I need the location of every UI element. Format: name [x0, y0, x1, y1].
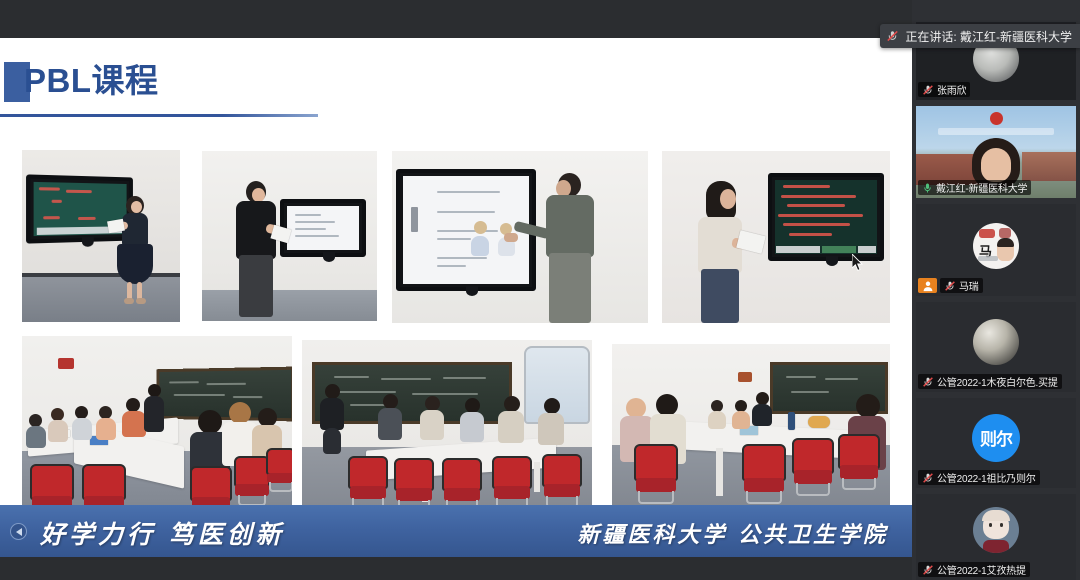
chair — [634, 444, 678, 504]
slide-clipart — [474, 221, 487, 234]
board-writing — [789, 233, 832, 236]
person-head — [229, 402, 251, 424]
photo-3[interactable] — [392, 151, 648, 323]
person-torso — [320, 398, 344, 430]
slide-clipart — [471, 236, 489, 256]
table-leg — [716, 448, 723, 496]
campus-title-text — [938, 128, 1053, 135]
student — [420, 396, 446, 450]
mouse-pointer-icon — [852, 254, 864, 272]
slide-title-block: PBL课程 — [0, 52, 340, 104]
participant-tile[interactable]: 则尔 公管2022-1祖比乃则尔 — [916, 398, 1076, 488]
student-presenter — [752, 392, 774, 424]
slide-line — [295, 235, 339, 237]
chair — [542, 454, 582, 508]
chair — [742, 444, 786, 504]
student — [72, 406, 94, 440]
person-face — [252, 188, 265, 202]
photo-2[interactable] — [202, 151, 377, 321]
microphone-muted-icon — [922, 84, 934, 96]
participant-name: 张雨欣 — [937, 82, 966, 97]
student — [732, 400, 752, 428]
smartboard-sensor — [466, 286, 478, 296]
smartboard-sensor — [826, 256, 838, 266]
student — [96, 406, 118, 440]
person-torso — [460, 412, 484, 442]
board-writing — [43, 216, 60, 219]
chair — [394, 458, 434, 512]
board-writing — [39, 187, 60, 190]
person-pants — [549, 253, 591, 323]
person-torso — [48, 420, 68, 442]
person-shoe — [124, 298, 134, 304]
person-torso — [26, 426, 46, 448]
table-items — [788, 412, 795, 430]
wall-clock — [58, 358, 74, 369]
participant-name: 马瑞 — [959, 278, 979, 293]
student — [48, 408, 70, 442]
person-head — [544, 398, 560, 414]
student — [26, 414, 48, 446]
person-presenter — [690, 181, 760, 323]
speaker-face — [981, 148, 1011, 182]
smartboard-toolbar — [822, 246, 857, 253]
slide-line — [437, 238, 471, 240]
participant-name: 公管2022-1祖比乃则尔 — [937, 470, 1036, 485]
person-torso — [732, 411, 750, 429]
blackboard-writing — [206, 383, 246, 385]
avatar: 马 — [973, 223, 1019, 269]
person-pants — [323, 428, 341, 454]
microphone-muted-icon — [922, 376, 934, 388]
table-leg — [534, 462, 540, 492]
student-presenter — [144, 384, 166, 432]
participant-tile-active-speaker[interactable]: 戴江红-新疆医科大学 — [916, 106, 1076, 198]
person-torso — [752, 404, 772, 426]
chair — [266, 448, 292, 492]
participant-tile[interactable]: 公管2022-1艾孜热提 — [916, 494, 1076, 580]
person-jeans — [701, 269, 739, 323]
person-head — [626, 398, 646, 418]
blackboard-writing — [443, 377, 486, 379]
blackboard-writing — [381, 378, 431, 380]
chair — [792, 438, 834, 496]
board-writing — [783, 223, 850, 226]
smartboard-screen — [775, 180, 877, 254]
student — [378, 394, 404, 450]
participant-rail[interactable]: 张雨欣 戴江红-新疆医科大学 — [912, 0, 1080, 580]
blackboard-writing — [334, 376, 369, 378]
avatar-cartoon — [973, 507, 1019, 553]
chair — [234, 456, 270, 506]
board-writing — [787, 204, 845, 207]
blackboard-writing — [233, 396, 263, 398]
meeting-window: PBL课程 — [0, 0, 1080, 580]
board-writing — [783, 185, 831, 188]
participant-tile[interactable]: 公管2022-1木夜白尔色.买提 — [916, 302, 1076, 392]
page-title: PBL课程 — [24, 58, 159, 103]
person-torso — [122, 411, 146, 437]
slide-line — [295, 214, 322, 216]
person-head — [465, 398, 480, 413]
board-writing — [781, 195, 857, 198]
chair — [348, 456, 388, 510]
photo-4[interactable] — [662, 151, 890, 323]
person-face — [131, 201, 142, 213]
person-skirt — [117, 244, 153, 284]
person-shoe — [136, 298, 146, 304]
photo-floor — [202, 290, 377, 321]
active-speaker-toast: 正在讲话: 戴江红-新疆医科大学 — [880, 24, 1080, 48]
wall-clock — [738, 372, 752, 382]
board-writing — [66, 190, 92, 193]
title-underline — [0, 114, 318, 117]
person-torso — [96, 418, 116, 440]
chair — [838, 434, 880, 490]
person-torso — [546, 195, 594, 257]
person-torso — [708, 411, 726, 429]
person-torso — [378, 408, 402, 440]
slide-footer-banner: 好学力行 笃医创新 新疆医科大学 公共卫生学院 — [0, 505, 912, 557]
person-pants — [239, 255, 273, 317]
blackboard-writing — [825, 378, 859, 380]
person-torso — [72, 418, 92, 440]
slide-line — [437, 191, 500, 193]
microphone-muted-icon — [944, 280, 956, 292]
person-head — [656, 394, 678, 416]
participant-name-bar: 戴江红-新疆医科大学 — [918, 180, 1031, 195]
blackboard-writing — [412, 393, 478, 395]
person-face — [720, 189, 736, 209]
slide-line — [295, 221, 336, 223]
person-head — [504, 396, 520, 412]
participant-name-bar: 公管2022-1艾孜热提 — [918, 562, 1030, 577]
smartboard-toolbar — [776, 246, 819, 253]
avatar — [973, 319, 1019, 365]
participant-tile[interactable]: 马 马瑞 — [916, 204, 1076, 296]
student — [460, 398, 486, 452]
participant-name: 公管2022-1木夜白尔色.买提 — [937, 374, 1058, 389]
photo-1[interactable] — [22, 150, 180, 322]
person-torso — [144, 396, 164, 432]
person-torso — [538, 413, 564, 445]
person-head — [856, 394, 880, 418]
smartboard-sensor — [323, 252, 335, 262]
avatar-initials-text: 则尔 — [980, 425, 1012, 450]
person-presenter — [230, 181, 282, 321]
person-torso — [498, 411, 524, 443]
participant-name-bar: 马瑞 — [940, 278, 983, 293]
microphone-icon — [922, 182, 933, 194]
participant-name: 戴江红-新疆医科大学 — [936, 180, 1027, 195]
slide-line — [437, 230, 498, 232]
table-items — [808, 416, 830, 428]
person-head — [425, 396, 440, 411]
photo-7[interactable] — [612, 344, 890, 524]
person-hand — [504, 233, 518, 242]
campus-building — [1022, 152, 1076, 181]
photo-6[interactable] — [302, 340, 592, 524]
person-head — [383, 394, 398, 409]
student — [498, 396, 526, 454]
photo-5[interactable] — [22, 336, 292, 528]
smartboard — [768, 173, 884, 261]
avatar-initials: 则尔 — [972, 414, 1020, 462]
slide-line — [295, 228, 326, 230]
student — [538, 398, 566, 454]
active-speaker-label: 正在讲话: 戴江红-新疆医科大学 — [905, 28, 1072, 45]
microphone-muted-icon — [922, 472, 934, 484]
blackboard-writing — [338, 391, 396, 393]
smartboard — [280, 199, 366, 257]
presentation-slide[interactable]: PBL课程 — [0, 38, 912, 557]
smartboard-toolbar — [858, 246, 875, 253]
back-arrow-icon[interactable] — [10, 523, 27, 540]
student-presenter — [320, 384, 346, 452]
chair — [492, 456, 532, 510]
person-torso — [420, 410, 444, 440]
blackboard-writing — [174, 394, 225, 396]
slide-line — [437, 211, 495, 213]
person-torso — [122, 213, 148, 247]
participant-name-bar: 公管2022-1木夜白尔色.买提 — [918, 374, 1062, 389]
board-writing — [52, 199, 62, 202]
banner-motto: 好学力行 笃医创新 — [40, 515, 285, 551]
person-head — [126, 398, 140, 412]
participant-name-bar: 张雨欣 — [918, 82, 970, 97]
board-writing — [778, 214, 862, 217]
host-badge-icon — [918, 278, 937, 293]
blackboard-writing — [169, 381, 199, 383]
chair — [442, 458, 482, 512]
person-head — [198, 410, 222, 434]
blackboard-writing — [791, 391, 829, 393]
microphone-muted-icon — [922, 564, 934, 576]
microphone-muted-icon — [886, 29, 899, 43]
shared-screen-region[interactable]: PBL课程 — [0, 0, 912, 580]
slide-heading — [411, 207, 419, 232]
blackboard-writing — [786, 376, 815, 378]
person-head — [325, 384, 340, 399]
person-presenter — [530, 173, 608, 323]
board-writing — [78, 217, 96, 220]
student — [708, 400, 728, 428]
banner-organization: 新疆医科大学 公共卫生学院 — [577, 517, 888, 549]
campus-emblem — [990, 112, 1003, 125]
person-presenter — [114, 196, 158, 308]
participant-name: 公管2022-1艾孜热提 — [937, 562, 1026, 577]
participant-name-bar: 公管2022-1祖比乃则尔 — [918, 470, 1040, 485]
